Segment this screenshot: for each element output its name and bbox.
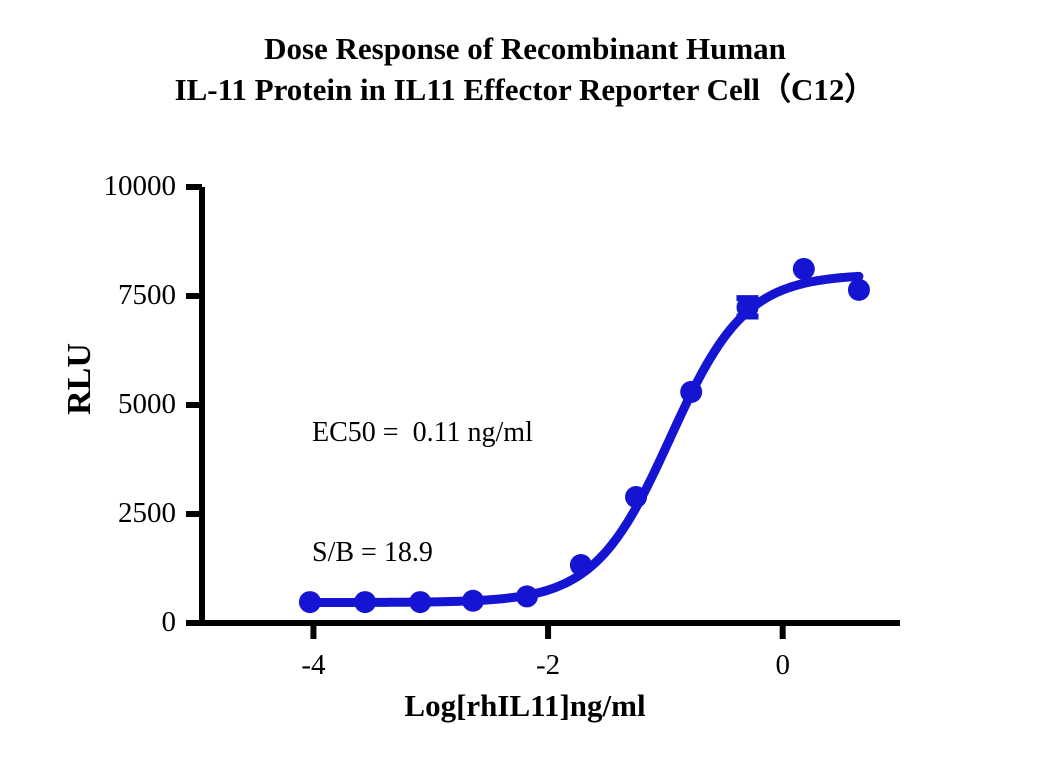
data-point-marker bbox=[680, 381, 702, 403]
figure-container: Dose Response of Recombinant Human IL-11… bbox=[0, 0, 1050, 767]
data-point-marker bbox=[354, 591, 376, 613]
axes bbox=[186, 187, 900, 639]
x-axis-tick-label: -2 bbox=[508, 651, 588, 680]
data-point-marker bbox=[409, 591, 431, 613]
y-axis-tick-label: 10000 bbox=[56, 172, 176, 201]
data-series bbox=[299, 258, 870, 613]
data-point-marker bbox=[793, 258, 815, 280]
data-point-marker bbox=[462, 590, 484, 612]
x-axis-tick-label: 0 bbox=[743, 651, 823, 680]
data-point-marker bbox=[299, 591, 321, 613]
y-axis-tick-label: 5000 bbox=[56, 390, 176, 419]
data-point-marker bbox=[848, 279, 870, 301]
fit-curve bbox=[310, 276, 859, 602]
y-axis-tick-label: 0 bbox=[56, 608, 176, 637]
x-axis-tick-label: -4 bbox=[273, 651, 353, 680]
data-point-marker bbox=[736, 296, 758, 318]
y-axis-tick-label: 7500 bbox=[56, 281, 176, 310]
data-point-marker bbox=[625, 486, 647, 508]
y-axis-tick-label: 2500 bbox=[56, 499, 176, 528]
data-point-marker bbox=[516, 585, 538, 607]
data-point-marker bbox=[570, 554, 592, 576]
